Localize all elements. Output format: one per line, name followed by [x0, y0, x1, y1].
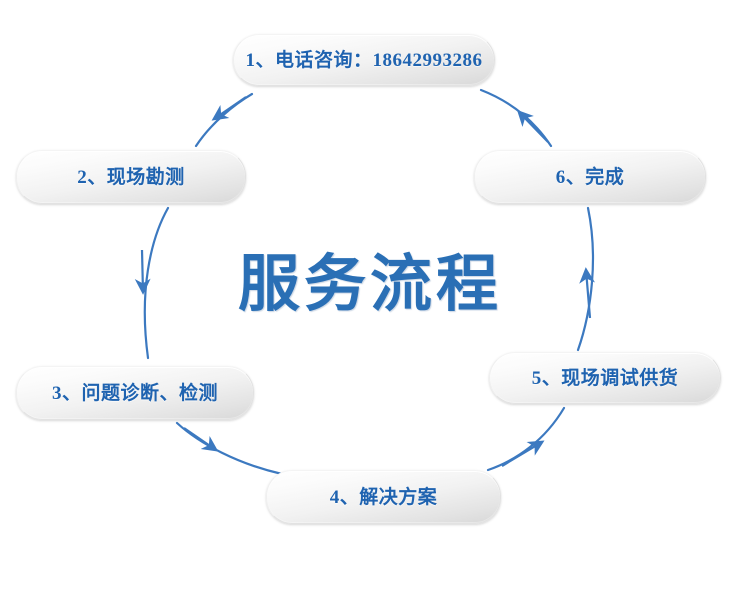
step-node-5-label: 5、现场调试供货: [532, 369, 679, 388]
step-node-1-label: 1、电话咨询：18642993286: [245, 51, 482, 70]
diagram-title-text: 服务流程: [238, 254, 502, 316]
step-node-6[interactable]: 6、完成: [474, 150, 706, 204]
step-node-4-label: 4、解决方案: [330, 488, 438, 507]
step-node-3-label: 3、问题诊断、检测: [52, 384, 218, 403]
step-node-6-label: 6、完成: [556, 168, 625, 187]
step-node-5[interactable]: 5、现场调试供货: [489, 352, 721, 404]
arrow-2-to-3: [142, 208, 168, 358]
arrow-4-to-5: [488, 408, 564, 470]
step-node-3[interactable]: 3、问题诊断、检测: [16, 366, 254, 420]
arrow-3-to-4: [177, 423, 282, 474]
arrow-2-to-1: [196, 94, 252, 146]
service-process-diagram: 1、电话咨询：18642993286 2、现场勘测 3、问题诊断、检测 4、解决…: [0, 0, 740, 605]
arrow-5-to-6: [578, 208, 593, 350]
step-node-2[interactable]: 2、现场勘测: [16, 150, 246, 204]
step-node-2-label: 2、现场勘测: [77, 168, 185, 187]
diagram-center-title: 服务流程: [230, 240, 510, 330]
step-node-1[interactable]: 1、电话咨询：18642993286: [233, 34, 495, 86]
arrow-6-to-1: [481, 90, 551, 146]
step-node-4[interactable]: 4、解决方案: [266, 470, 501, 524]
